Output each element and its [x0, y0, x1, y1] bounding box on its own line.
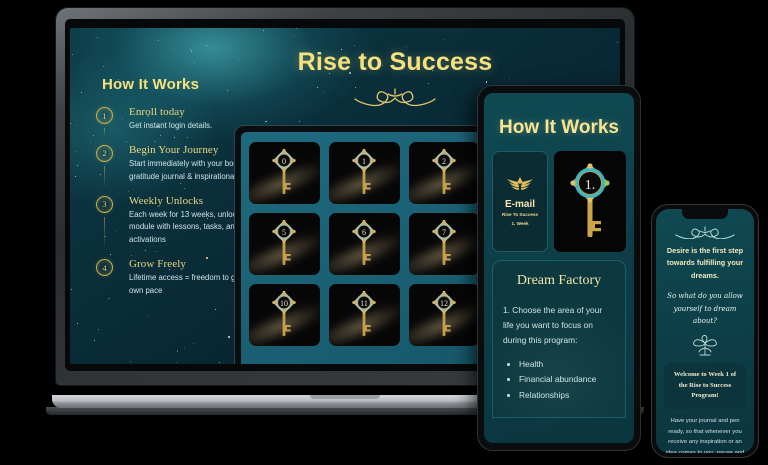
dream-factory-bullets: Health Financial abundance Relationships: [519, 357, 615, 404]
flourish-ornament: [663, 225, 747, 239]
email-tile-sub-line1: Rise To Success: [502, 212, 538, 219]
ornate-key-icon: 6: [347, 218, 381, 270]
email-tile[interactable]: E-mail Rise To Success 1. Week: [492, 151, 548, 252]
svg-text:0: 0: [282, 157, 286, 166]
gold-wings-icon: [505, 176, 535, 197]
dream-factory-title: Dream Factory: [503, 273, 615, 289]
key-card[interactable]: 6: [329, 213, 400, 275]
page-title: Rise to Success: [245, 48, 545, 77]
phone-frame: Desire is the first step towards fulfill…: [652, 205, 758, 457]
key-card[interactable]: 12: [409, 284, 480, 346]
list-item: Health: [519, 357, 615, 373]
list-item: Financial abundance: [519, 372, 615, 388]
floral-ornament: [663, 335, 747, 357]
step-rail: [104, 166, 105, 188]
tablet-device: How It Works: [478, 86, 640, 450]
svg-text:10: 10: [280, 299, 288, 308]
dream-factory-card: Dream Factory 1. Choose the area of your…: [492, 260, 626, 418]
key-card[interactable]: 5: [249, 213, 320, 275]
key-card[interactable]: 10: [249, 284, 320, 346]
ornate-key-icon: 0: [267, 147, 301, 199]
phone-body-text: Have your journal and pen ready, so that…: [663, 416, 747, 453]
ornate-key-icon: 2: [427, 147, 461, 199]
ornate-key-icon: 10: [267, 289, 301, 341]
week-key-tile[interactable]: 1.: [554, 151, 626, 252]
svg-text:7: 7: [442, 228, 446, 237]
key-card[interactable]: 1: [329, 142, 400, 204]
step-rail: [104, 128, 105, 137]
tablet-frame: How It Works: [478, 86, 640, 450]
step-number: 4: [96, 259, 113, 276]
list-item: Relationships: [519, 388, 615, 404]
phone-notch: [682, 209, 728, 219]
ornate-key-icon: 12: [427, 289, 461, 341]
ornate-key-icon: 11: [347, 289, 381, 341]
step-rail: [104, 217, 105, 252]
svg-text:11: 11: [360, 299, 368, 308]
svg-text:6: 6: [362, 228, 366, 237]
email-tile-label: E-mail: [505, 199, 535, 210]
ornate-key-icon: 7: [427, 218, 461, 270]
mockup-stage: Rise to Success How It Works: [0, 0, 768, 465]
dream-factory-paragraph: 1. Choose the area of your life you want…: [503, 303, 615, 348]
tablet-screen: How It Works: [484, 93, 634, 443]
phone-script-line: So what do you allow yourself to dream a…: [663, 290, 747, 328]
phone-welcome-card: Welcome to Week 1 of the Rise to Success…: [664, 363, 746, 409]
ornate-key-icon: 1.: [560, 159, 620, 245]
key-card[interactable]: 7: [409, 213, 480, 275]
svg-text:2: 2: [442, 157, 446, 166]
ornate-key-icon: 5: [267, 218, 301, 270]
key-card[interactable]: 11: [329, 284, 400, 346]
step-number: 3: [96, 196, 113, 213]
phone-screen: Desire is the first step towards fulfill…: [656, 209, 754, 453]
key-card[interactable]: 0: [249, 142, 320, 204]
step-title: Enroll today: [129, 106, 276, 118]
step-number: 2: [96, 145, 113, 162]
phone-device: Desire is the first step towards fulfill…: [652, 205, 758, 457]
svg-text:1: 1: [362, 157, 366, 166]
email-tile-sub-line2: 1. Week: [511, 221, 528, 228]
key-card[interactable]: 2: [409, 142, 480, 204]
phone-headline: Desire is the first step towards fulfill…: [663, 245, 747, 282]
ornate-key-icon: 1: [347, 147, 381, 199]
tablet-top-row: E-mail Rise To Success 1. Week: [492, 151, 626, 252]
section-heading: How It Works: [102, 76, 199, 93]
week-key-label: 1.: [585, 178, 596, 193]
step-number: 1: [96, 107, 113, 124]
svg-text:5: 5: [282, 228, 286, 237]
tablet-page-title: How It Works: [492, 117, 626, 139]
svg-text:12: 12: [440, 299, 448, 308]
